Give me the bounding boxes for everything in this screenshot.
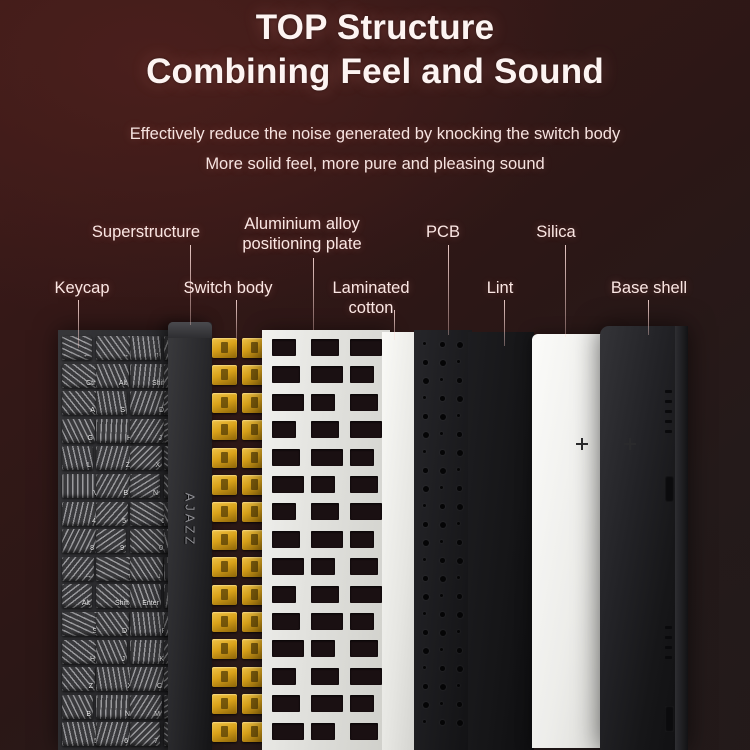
plate-cutout <box>350 613 374 630</box>
layer-positioning-plate <box>262 330 390 750</box>
plate-cutout <box>311 339 339 356</box>
switch-stem <box>251 479 258 490</box>
plate-cutout <box>272 339 296 356</box>
plate-cutout <box>272 366 300 383</box>
switch-stem <box>251 424 258 435</box>
keycap: ← <box>62 336 92 360</box>
pcb-hole <box>457 468 460 471</box>
leader-line-4 <box>313 258 314 330</box>
keycap-legend: Enter <box>142 600 159 607</box>
keycap: 5 <box>96 502 128 526</box>
keycap-legend: S <box>120 407 125 414</box>
pcb-hole <box>457 522 460 525</box>
pcb-hole <box>423 504 426 507</box>
keycap-legend: L <box>87 462 91 469</box>
base-clip-2 <box>665 706 674 732</box>
switch-stem <box>221 534 228 545</box>
plate-cutout <box>311 503 339 520</box>
keycap-legend: M <box>154 711 160 718</box>
pcb-hole <box>440 594 443 597</box>
keycap: A <box>62 391 97 415</box>
keycap: S <box>96 391 127 415</box>
base-shell-edge <box>675 326 688 750</box>
pcb-hole <box>440 558 445 563</box>
pcb-hole <box>423 558 426 561</box>
plate-cutout <box>272 695 300 712</box>
pcb-hole <box>440 378 443 381</box>
base-vent-2 <box>665 400 672 403</box>
plate-cutout <box>311 640 335 657</box>
keycap-legend: C <box>157 683 162 690</box>
pcb-hole <box>423 414 428 419</box>
plate-cutout <box>311 668 339 685</box>
exploded-keyboard-assembly: ←→↑↓CtrlAltShiftEnterASDFGHJKLZXCVBNM456… <box>0 0 750 750</box>
pcb-hole <box>423 522 428 527</box>
pcb-hole <box>440 576 446 582</box>
pcb-hole <box>440 702 443 705</box>
pcb-hole <box>457 378 462 383</box>
layer-lint <box>468 332 534 750</box>
keycap: Alt <box>62 584 92 608</box>
pcb-hole <box>457 594 462 599</box>
pcb-hole <box>440 666 445 671</box>
switch-stem <box>221 671 228 682</box>
keycap-legend: 0 <box>159 545 163 552</box>
pcb-hole <box>423 576 428 581</box>
callout-label-switch-body: Switch body <box>184 278 273 298</box>
switch <box>212 585 237 605</box>
pcb-hole <box>440 450 445 455</box>
pcb-hole <box>423 702 429 708</box>
plate-cutout <box>350 586 382 603</box>
keycap: G <box>62 419 95 443</box>
pcb-hole <box>457 648 462 653</box>
base-vent-8 <box>665 646 672 649</box>
switch <box>212 338 237 358</box>
keycap: K <box>130 640 166 664</box>
base-clip-1 <box>665 476 674 502</box>
plate-cutout <box>350 449 374 466</box>
keycap: H <box>96 419 134 443</box>
pcb-hole <box>457 720 463 726</box>
pcb-hole <box>423 468 428 473</box>
pcb-hole <box>457 450 463 456</box>
base-vent-1 <box>665 390 672 393</box>
keycap: Z <box>62 667 95 691</box>
plate-cutout <box>311 695 343 712</box>
switch <box>212 612 237 632</box>
switch <box>212 365 237 385</box>
base-vent-5 <box>665 430 672 433</box>
keycap-legend: N <box>153 490 158 497</box>
keycap-legend: ← <box>83 352 90 359</box>
plate-cutout <box>350 339 382 356</box>
switch-stem <box>221 616 228 627</box>
switch-stem <box>221 589 228 600</box>
keycap: Z <box>96 446 132 470</box>
pcb-hole <box>440 648 443 651</box>
plate-cutout <box>350 503 382 520</box>
keycap: 8 <box>62 529 96 553</box>
base-vent-6 <box>665 626 672 629</box>
pcb-hole <box>423 612 426 615</box>
plate-cutout <box>311 723 335 740</box>
switch-stem <box>221 452 228 463</box>
plate-cutout <box>272 723 304 740</box>
plate-cutout <box>350 558 378 575</box>
callout-label-keycap: Keycap <box>54 278 109 298</box>
pcb-hole <box>423 720 426 723</box>
pcb-hole <box>423 540 429 546</box>
pcb-hole <box>457 396 463 402</box>
plate-cutout <box>350 531 374 548</box>
switch <box>212 448 237 468</box>
leader-line-7 <box>504 300 505 346</box>
pcb-hole <box>440 396 445 401</box>
keycap: Alt <box>96 364 129 388</box>
keycap: X <box>130 446 162 470</box>
keycap: S <box>62 612 99 636</box>
switch-stem <box>221 506 228 517</box>
leader-line-5 <box>394 310 395 340</box>
switch-stem <box>221 698 228 709</box>
callout-label-silica: Silica <box>536 222 575 242</box>
switch-stem <box>221 342 228 353</box>
switch-stem <box>221 479 228 490</box>
keycap: 4 <box>62 502 98 526</box>
switch-stem <box>221 726 228 737</box>
callout-label-laminated-cotton: Laminated cotton <box>332 278 409 318</box>
keycap: → <box>96 336 131 360</box>
keycap: L <box>62 446 93 470</box>
switch-stem <box>251 452 258 463</box>
pcb-hole <box>457 342 463 348</box>
plate-cutout <box>272 503 296 520</box>
pcb-hole <box>423 378 429 384</box>
pcb-hole <box>440 486 443 489</box>
pcb-hole <box>457 666 463 672</box>
keycap: J <box>96 640 127 664</box>
leader-line-6 <box>448 245 449 335</box>
plate-cutout <box>272 613 300 630</box>
keycap-legend: 6 <box>124 738 128 745</box>
pcb-hole <box>440 468 446 474</box>
keycap: N <box>96 695 132 719</box>
switch <box>212 420 237 440</box>
plate-cutout <box>272 531 300 548</box>
keycap-legend: 8 <box>90 545 94 552</box>
switch <box>212 557 237 577</box>
keycap: Enter <box>130 584 161 608</box>
pcb-hole <box>423 666 426 669</box>
pcb-hole <box>423 684 428 689</box>
layer-laminated-cotton <box>382 332 418 750</box>
pcb-hole <box>440 360 446 366</box>
pcb-hole <box>440 342 445 347</box>
pcb-hole <box>440 432 443 435</box>
base-vent-7 <box>665 636 672 639</box>
keycap: C <box>130 667 164 691</box>
pcb-hole <box>440 612 445 617</box>
keycap-legend: G <box>88 435 93 442</box>
keycap: Ctrl <box>62 364 99 388</box>
plate-cutout <box>272 668 296 685</box>
base-vent-4 <box>665 420 672 423</box>
pcb-hole <box>457 702 462 707</box>
leader-line-9 <box>648 300 649 335</box>
switch-stem <box>221 561 228 572</box>
keycap: D <box>96 612 129 636</box>
switch-stem <box>251 589 258 600</box>
pcb-hole <box>440 414 446 420</box>
switch-stem <box>251 534 258 545</box>
keycap: X <box>96 667 134 691</box>
keycap-legend: ↓ <box>158 573 162 580</box>
keycap-legend: 5 <box>122 518 126 525</box>
keycap: 6 <box>130 502 167 526</box>
plate-cutout <box>350 394 378 411</box>
base-vent-3 <box>665 410 672 413</box>
pcb-hole <box>423 396 426 399</box>
plate-cutout <box>350 695 374 712</box>
pcb-hole <box>457 576 460 579</box>
keycap-legend: X <box>155 462 160 469</box>
plate-cutout <box>311 394 335 411</box>
brand-logo-text: AJAZZ <box>183 492 198 547</box>
switch <box>212 694 237 714</box>
leader-line-8 <box>565 245 566 337</box>
callout-label-superstructure: Superstructure <box>92 222 200 242</box>
switch-stem <box>221 369 228 380</box>
pcb-hole <box>457 630 460 633</box>
keycap: 0 <box>130 529 165 553</box>
plate-cutout <box>272 421 296 438</box>
callout-label-base-shell: Base shell <box>611 278 687 298</box>
plate-cutout <box>272 640 304 657</box>
pcb-hole <box>457 540 462 545</box>
infographic-canvas: TOP Structure Combining Feel and Sound E… <box>0 0 750 750</box>
plate-cutout <box>272 394 304 411</box>
keycap: B <box>62 695 93 719</box>
keycap-legend: B <box>86 711 91 718</box>
switch <box>212 667 237 687</box>
plate-cutout <box>311 421 339 438</box>
plate-cutout <box>350 668 382 685</box>
plate-cutout <box>350 421 382 438</box>
plate-cutout <box>311 366 343 383</box>
leader-line-1 <box>78 300 79 348</box>
plate-cutout <box>272 558 304 575</box>
keycap-legend: 9 <box>120 545 124 552</box>
keycap: H <box>62 640 97 664</box>
keycap: ↓ <box>130 557 163 581</box>
keycap-legend: → <box>85 573 92 580</box>
plate-cutout <box>272 586 296 603</box>
plate-cutout <box>311 531 343 548</box>
plate-cutout <box>350 366 374 383</box>
plate-cutout <box>350 723 378 740</box>
pcb-hole <box>440 504 445 509</box>
keycap-legend: Alt <box>119 380 127 387</box>
pcb-hole <box>440 720 445 725</box>
keycap: ↑ <box>96 557 133 581</box>
switch-stem <box>251 561 258 572</box>
pcb-hole <box>457 486 462 491</box>
keycap-legend: J <box>159 435 163 442</box>
plate-cutout <box>272 476 304 493</box>
pcb-hole <box>457 558 463 564</box>
switch <box>212 639 237 659</box>
base-cross-mark <box>624 438 636 450</box>
switch-stem <box>221 397 228 408</box>
switch-stem <box>251 671 258 682</box>
switch-stem <box>251 726 258 737</box>
keycap-legend: → <box>122 352 129 359</box>
switch-stem <box>251 369 258 380</box>
keycap: F <box>130 612 168 636</box>
keycap-legend: D <box>122 628 127 635</box>
layer-base-shell <box>600 326 688 750</box>
keycap: 9 <box>96 529 126 553</box>
keycap-legend: B <box>123 490 128 497</box>
keycap-legend: J <box>122 656 126 663</box>
switch-stem <box>251 643 258 654</box>
switch-stem <box>251 342 258 353</box>
switch <box>212 475 237 495</box>
switch <box>212 722 237 742</box>
callout-label-pcb: PCB <box>426 222 460 242</box>
switch-stem <box>221 424 228 435</box>
keycap: D <box>130 391 166 415</box>
leader-line-3 <box>236 300 237 340</box>
plate-cutout <box>311 558 335 575</box>
layer-superstructure: AJAZZ <box>168 322 212 750</box>
plate-cutout <box>272 449 300 466</box>
pcb-hole <box>457 360 460 363</box>
keycap-legend: H <box>90 656 95 663</box>
pcb-hole <box>423 342 426 345</box>
pcb-hole <box>457 414 460 417</box>
pcb-hole <box>440 540 443 543</box>
pcb-hole <box>457 432 462 437</box>
keycap: ↑ <box>130 336 161 360</box>
keycap: 5 <box>62 722 100 746</box>
keycap-legend: ↑ <box>156 352 160 359</box>
callout-label-lint: Lint <box>487 278 514 298</box>
plate-cutout <box>350 640 378 657</box>
switch <box>212 393 237 413</box>
keycap: 7 <box>130 722 160 746</box>
keycap: M <box>130 695 162 719</box>
keycap: → <box>62 557 94 581</box>
switch <box>212 502 237 522</box>
plate-cutout <box>311 449 343 466</box>
callout-label-aluminium-alloy-positioning-plate: Aluminium alloy positioning plate <box>242 214 361 254</box>
pcb-hole <box>423 486 429 492</box>
switch <box>212 530 237 550</box>
keycap-legend: 7 <box>154 738 158 745</box>
keycap-legend: A <box>90 407 95 414</box>
plate-cutout <box>311 613 343 630</box>
pcb-hole <box>457 684 460 687</box>
keycap: Shift <box>96 584 131 608</box>
keycap-legend: Z <box>89 683 93 690</box>
switch-stem <box>251 698 258 709</box>
pcb-hole <box>423 450 426 453</box>
pcb-hole <box>457 504 463 510</box>
keycap: V <box>62 474 100 498</box>
plate-cutout <box>311 476 335 493</box>
switch-stem <box>251 397 258 408</box>
pcb-hole <box>440 684 446 690</box>
switch-stem <box>251 506 258 517</box>
keycap-legend: Shift <box>115 600 129 607</box>
keycap: 6 <box>96 722 130 746</box>
keycap-legend: Alt <box>82 600 90 607</box>
pcb-hole <box>423 630 428 635</box>
switch-stem <box>221 643 228 654</box>
base-vent-9 <box>665 656 672 659</box>
pcb-hole <box>457 612 463 618</box>
silica-cross-cutout <box>576 438 588 450</box>
pcb-hole <box>440 522 446 528</box>
pcb-hole <box>423 648 429 654</box>
plate-cutout <box>350 476 378 493</box>
layer-pcb <box>414 330 472 750</box>
pcb-hole <box>423 432 429 438</box>
pcb-hole <box>440 630 446 636</box>
keycap: Shift <box>130 364 168 388</box>
pcb-hole <box>423 594 429 600</box>
plate-cutout <box>311 586 339 603</box>
keycap: B <box>96 474 130 498</box>
switch-stem <box>251 616 258 627</box>
pcb-hole <box>423 360 428 365</box>
keycap: N <box>130 474 160 498</box>
keycap: J <box>130 419 164 443</box>
